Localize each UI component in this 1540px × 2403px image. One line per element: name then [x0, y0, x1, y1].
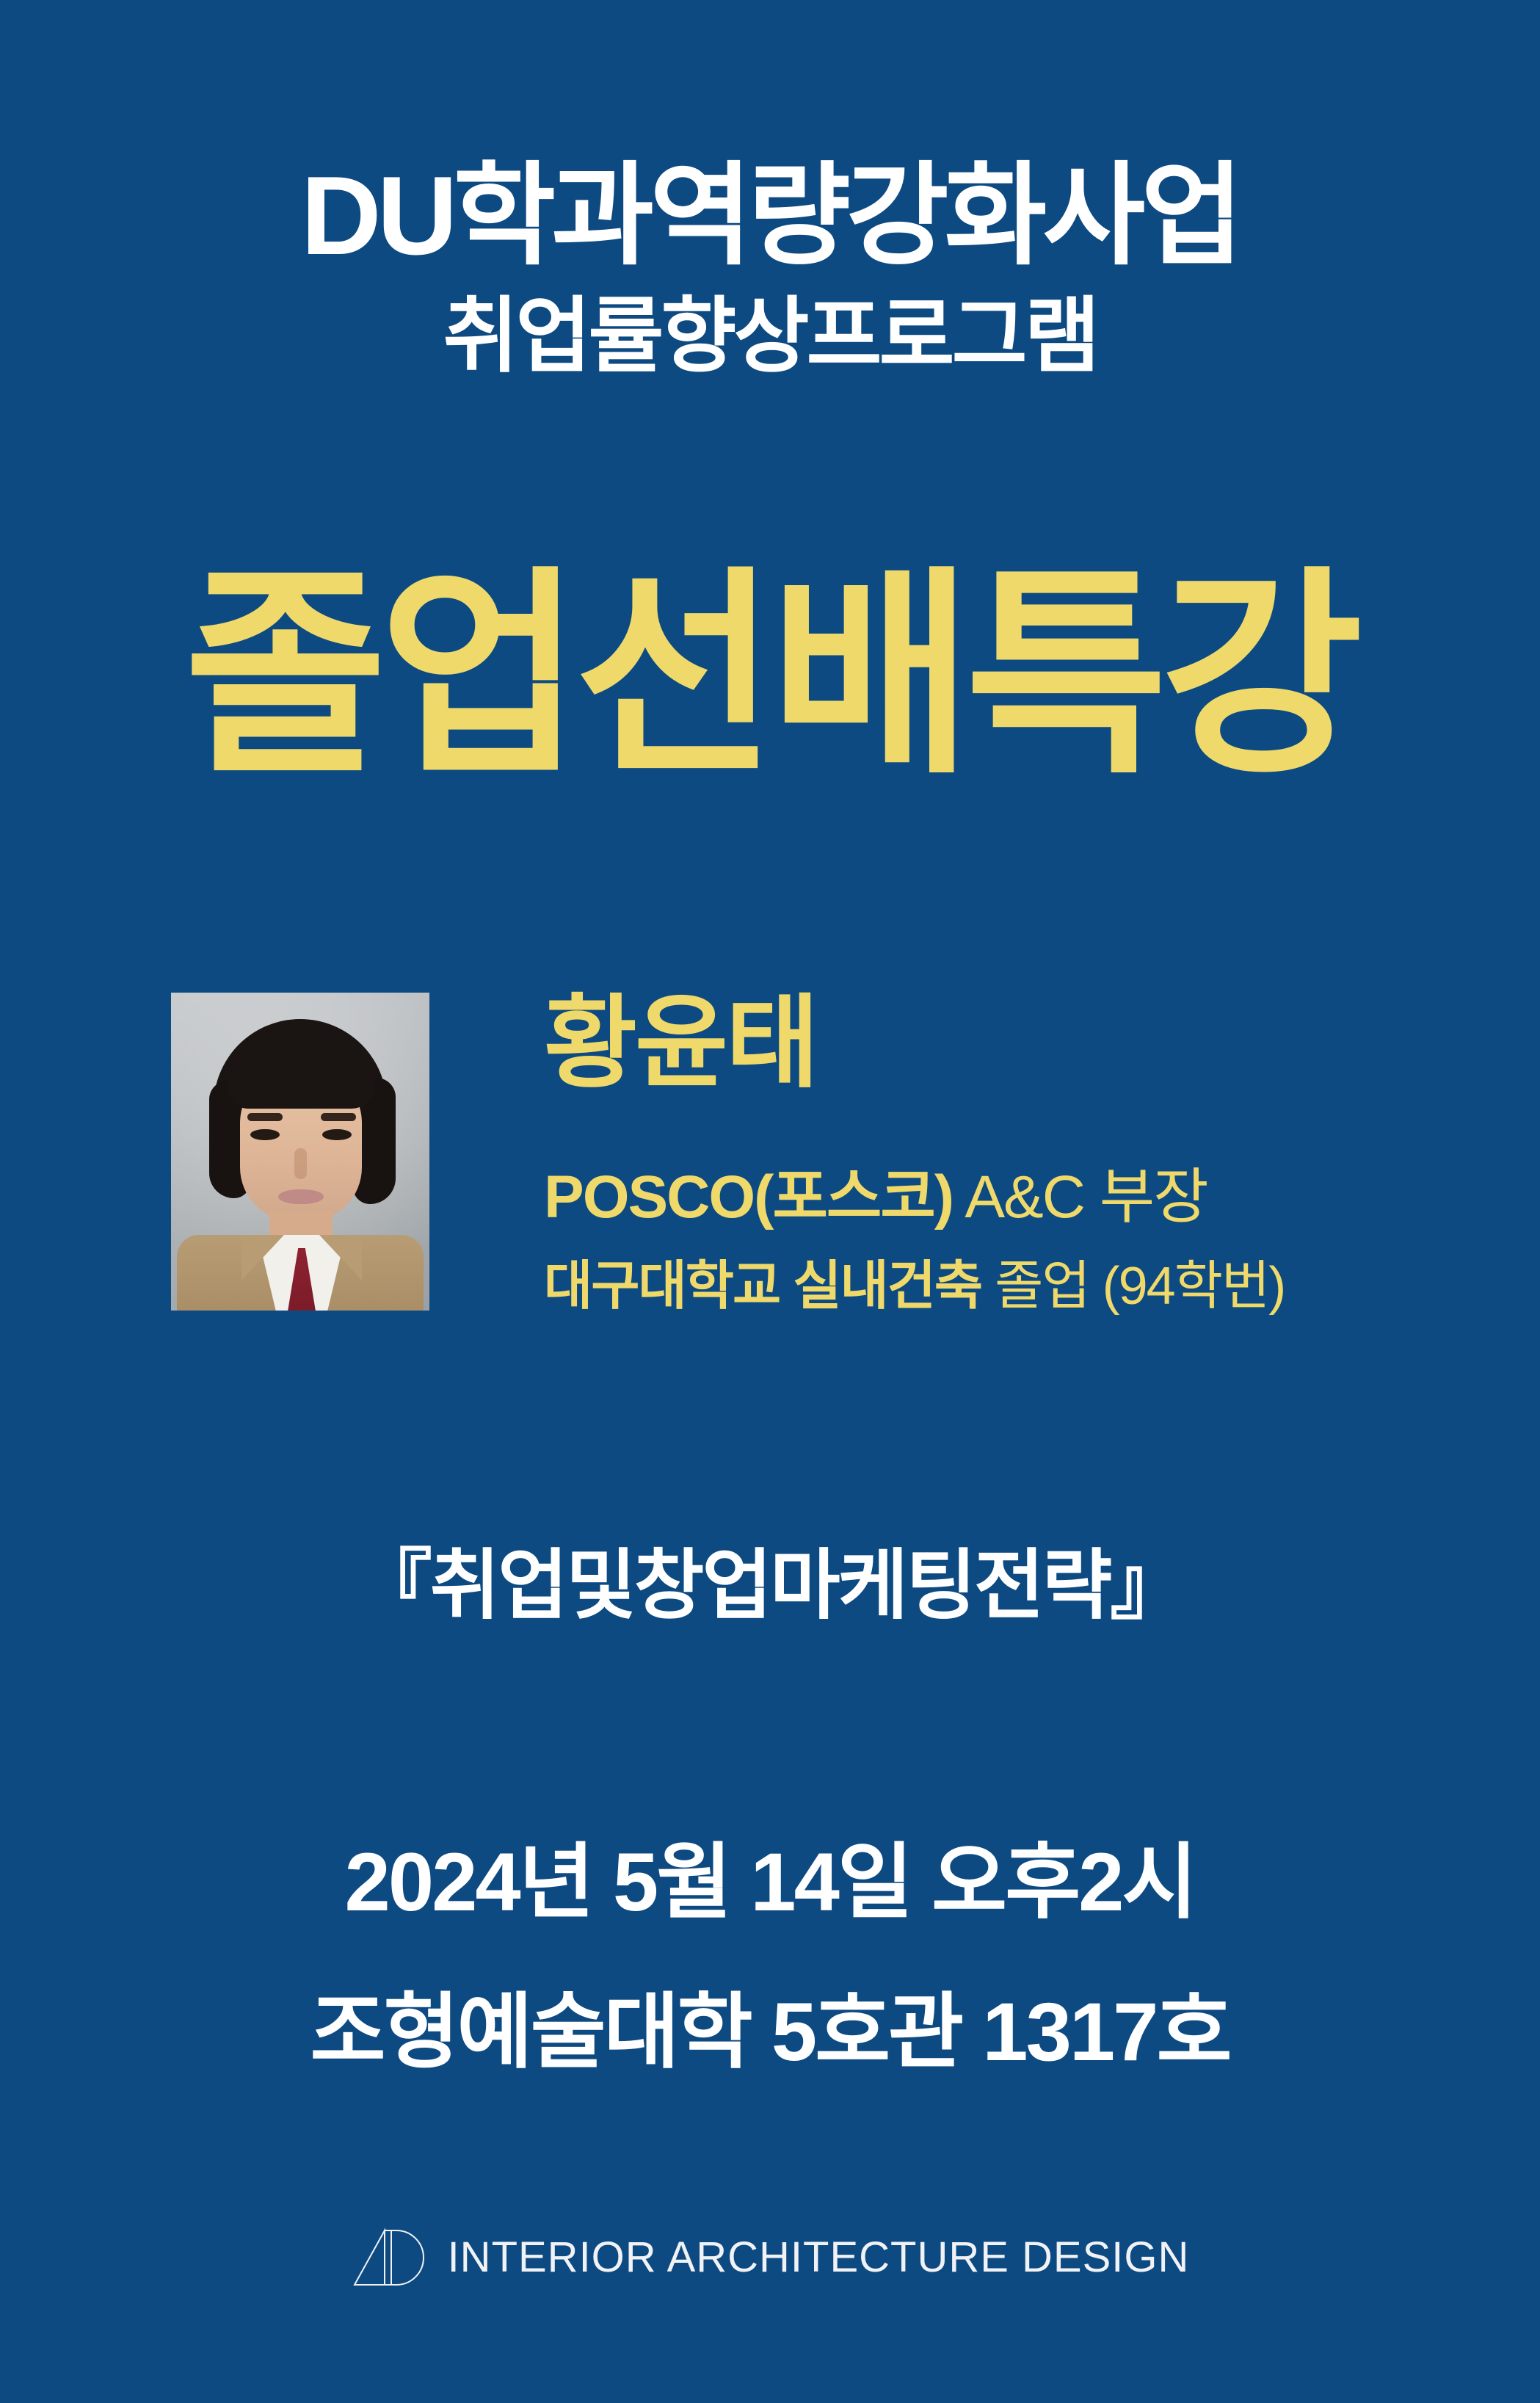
program-title: DU학과역량강화사업	[0, 160, 1540, 272]
main-headline: 졸업선배특강	[0, 565, 1540, 786]
portrait-eye-right	[322, 1129, 352, 1140]
speaker-photo	[171, 993, 429, 1311]
event-date: 2024년 5월 14일 오후2시	[0, 1841, 1540, 1924]
portrait-eyebrow-left	[247, 1113, 283, 1121]
portrait-fringe	[228, 1045, 375, 1109]
speaker-education: 대구대학교 실내건축 졸업 (94학번)	[544, 1260, 1375, 1313]
speaker-section: 황윤태 POSCO(포스코) A&C 부장 대구대학교 실내건축 졸업 (94학…	[171, 993, 1375, 1330]
department-name: INTERIOR ARCHITECTURE DESIGN	[448, 2236, 1190, 2279]
speaker-name: 황윤태	[544, 993, 1375, 1094]
poster-canvas: DU학과역량강화사업 취업률향상프로그램 졸업선배특강 황윤태	[0, 0, 1540, 2403]
speaker-position: A&C 부장	[953, 1164, 1207, 1231]
speaker-graduation-year: 졸업 (94학번)	[981, 1257, 1285, 1316]
iad-monogram-icon	[351, 2226, 427, 2289]
portrait-eye-left	[250, 1129, 280, 1140]
portrait-mouth	[278, 1189, 324, 1204]
lecture-topic: 『취업및창업마케팅전략』	[0, 1548, 1540, 1624]
portrait-eyebrow-right	[321, 1113, 356, 1121]
speaker-details: 황윤태 POSCO(포스코) A&C 부장 대구대학교 실내건축 졸업 (94학…	[544, 993, 1375, 1313]
speaker-company: POSCO(포스코)	[544, 1164, 953, 1231]
speaker-school: 대구대학교 실내건축	[544, 1257, 981, 1316]
event-location: 조형예술대학 5호관 1317호	[0, 1991, 1540, 2073]
program-subtitle: 취업률향상프로그램	[0, 295, 1540, 377]
footer: INTERIOR ARCHITECTURE DESIGN	[0, 2226, 1540, 2289]
speaker-role: POSCO(포스코) A&C 부장	[544, 1167, 1375, 1228]
portrait-nose	[294, 1148, 307, 1179]
